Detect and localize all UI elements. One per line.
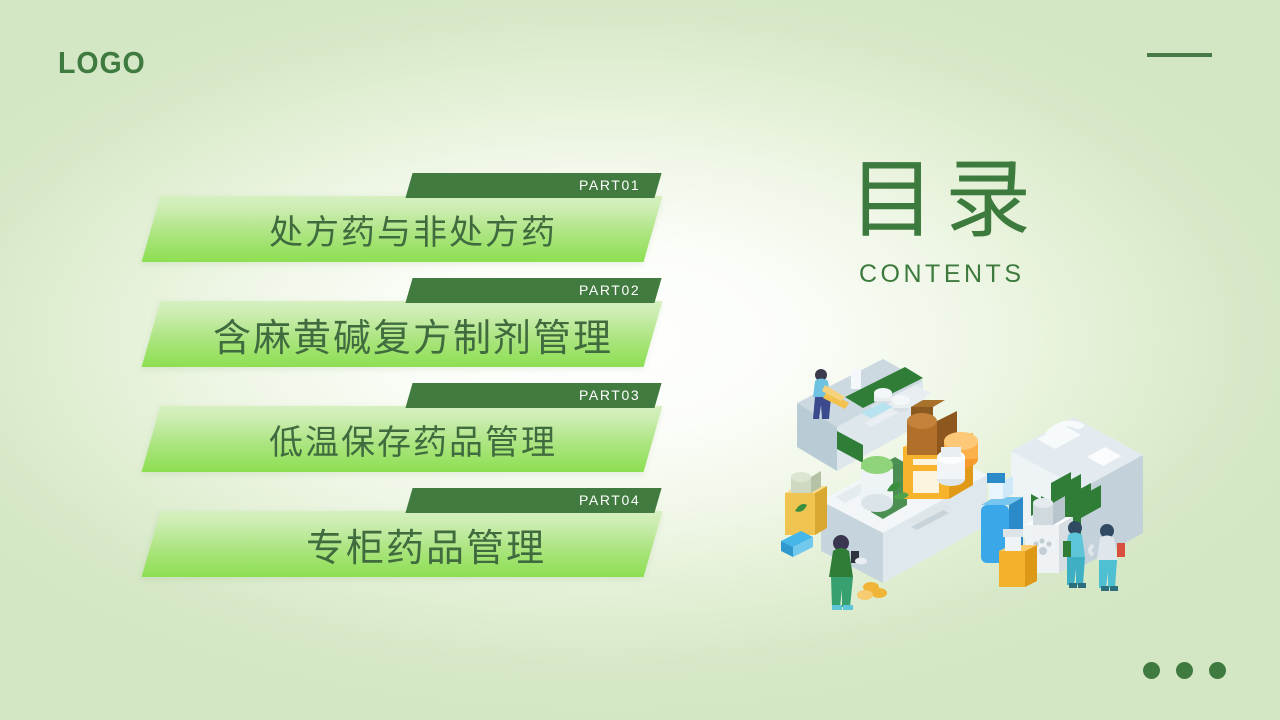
slide-canvas: LOGO PART01 处方药与非处方药 PART02 含麻黄碱复方制剂管理 P… (0, 0, 1280, 720)
agenda-item-4-part-label: PART04 (579, 488, 640, 513)
pharmacy-illustration (775, 345, 1155, 610)
agenda-item-4-part-tab: PART04 (405, 488, 661, 513)
agenda-item-2-title: 含麻黄碱复方制剂管理 (151, 301, 653, 367)
agenda-item-1-part-label: PART01 (579, 173, 640, 198)
agenda-item-2[interactable]: PART02 含麻黄碱复方制剂管理 (0, 290, 720, 390)
agenda-item-4-title: 专柜药品管理 (151, 511, 653, 577)
foreground-jar-icon (785, 471, 827, 535)
page-subtitle: CONTENTS (812, 260, 1068, 289)
contents-heading-block: 目录 CONTENTS (812, 152, 1068, 289)
progress-dot-2[interactable] (1176, 662, 1193, 679)
agenda-item-1-part-tab: PART01 (405, 173, 661, 198)
agenda-item-1[interactable]: PART01 处方药与非处方药 (0, 185, 720, 285)
agenda-item-3-part-label: PART03 (579, 383, 640, 408)
progress-dot-1[interactable] (1143, 662, 1160, 679)
agenda-item-2-part-tab: PART02 (405, 278, 661, 303)
agenda-item-3-part-tab: PART03 (405, 383, 661, 408)
agenda-item-3[interactable]: PART03 低温保存药品管理 (0, 395, 720, 495)
agenda-item-1-title: 处方药与非处方药 (151, 196, 653, 262)
agenda-item-3-title: 低温保存药品管理 (151, 406, 653, 472)
slide-progress-dots (1143, 662, 1226, 679)
agenda-banner-list: PART01 处方药与非处方药 PART02 含麻黄碱复方制剂管理 PART03… (0, 0, 720, 720)
page-title: 目录 (812, 152, 1068, 248)
agenda-item-2-part-label: PART02 (579, 278, 640, 303)
agenda-item-4[interactable]: PART04 专柜药品管理 (0, 500, 720, 600)
header-rule-decoration (1147, 53, 1212, 57)
progress-dot-3[interactable] (1209, 662, 1226, 679)
